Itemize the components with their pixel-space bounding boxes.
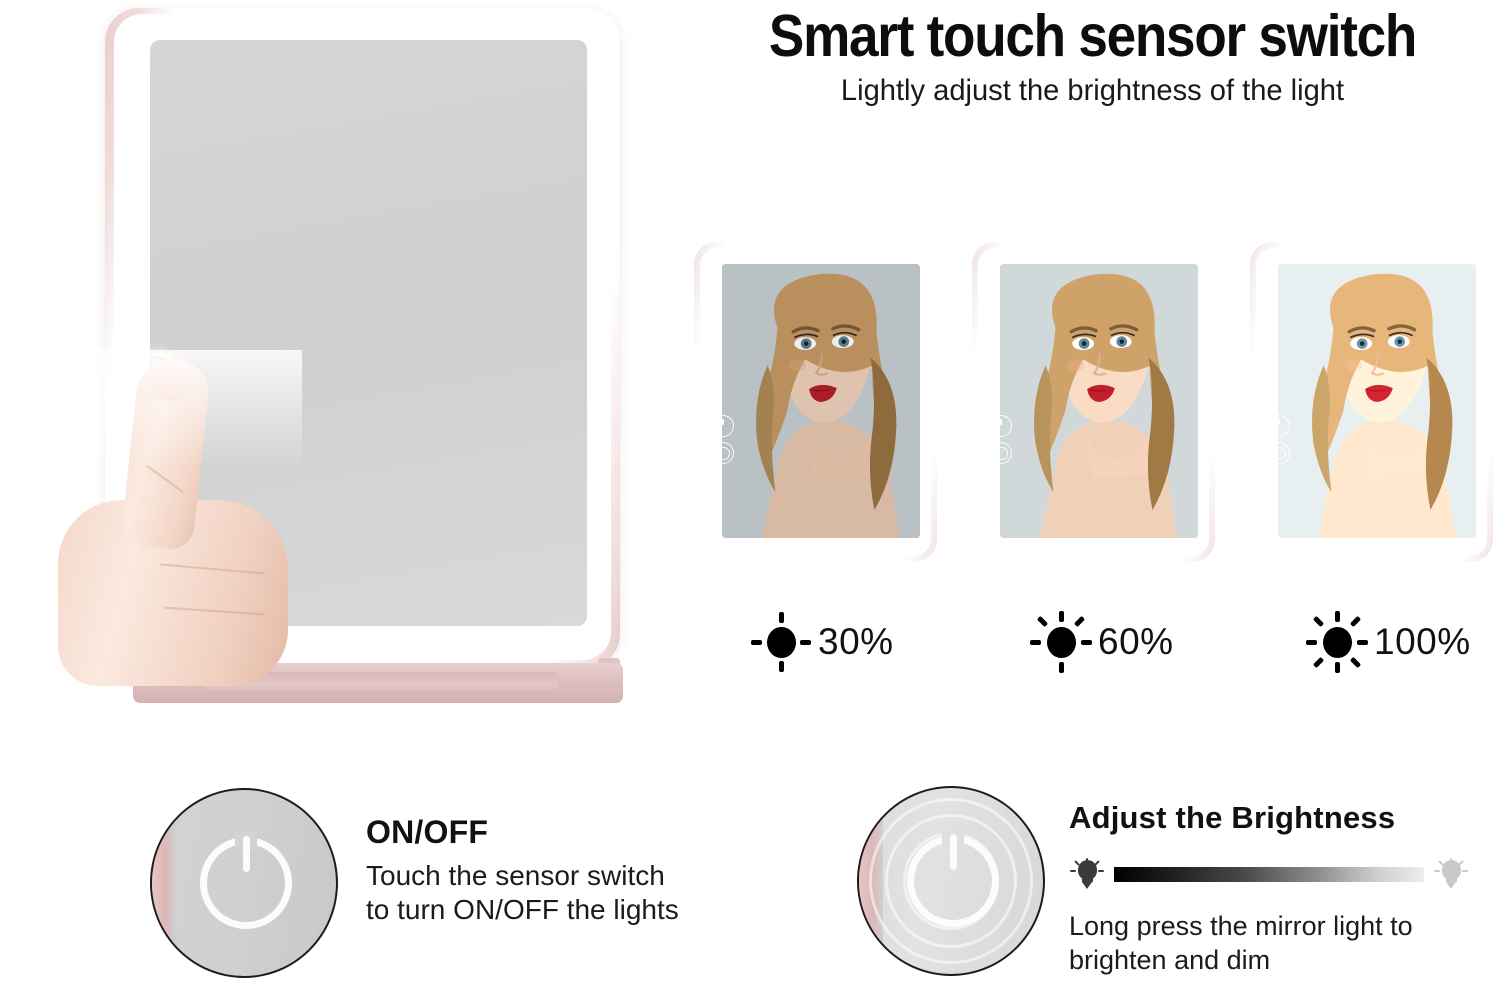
sun-ray bbox=[1081, 640, 1092, 645]
bright-bulb-icon bbox=[1433, 852, 1469, 896]
power-icon-stem bbox=[950, 834, 957, 870]
sun-ray bbox=[1313, 616, 1324, 627]
sun-ray bbox=[1059, 611, 1064, 622]
sun-core bbox=[1047, 627, 1076, 658]
sun-ray bbox=[779, 612, 784, 623]
sun-core bbox=[767, 627, 796, 658]
brightness-cycle-icon[interactable] bbox=[990, 442, 1012, 464]
sun-ray bbox=[1350, 616, 1361, 627]
bulb-ray bbox=[1070, 870, 1076, 872]
mirror-reflection-photo bbox=[722, 264, 920, 538]
on-off-line-2: to turn ON/OFF the lights bbox=[366, 893, 836, 927]
power-icon[interactable] bbox=[990, 415, 1012, 437]
brightness-level-labels: 30% 60% bbox=[694, 606, 1494, 686]
brightness-cycle-icon[interactable] bbox=[1268, 442, 1290, 464]
mirror-edge-strip bbox=[152, 801, 176, 965]
sun-ray bbox=[1059, 662, 1064, 673]
sun-ray bbox=[1350, 657, 1361, 668]
mirror-100 bbox=[1250, 242, 1493, 562]
on-off-line-1: Touch the sensor switch bbox=[366, 859, 836, 893]
on-off-description: Touch the sensor switch to turn ON/OFF t… bbox=[366, 859, 836, 927]
on-off-zoom-bubble bbox=[150, 788, 338, 978]
sun-core bbox=[1323, 627, 1352, 658]
brightness-zoom-bubble bbox=[857, 786, 1045, 976]
brightness-slider[interactable] bbox=[1069, 852, 1469, 896]
bulb-base bbox=[1446, 882, 1456, 889]
portrait-illustration bbox=[1278, 264, 1476, 538]
mirror-reflection-photo bbox=[1000, 264, 1198, 538]
bulb-base bbox=[1082, 882, 1092, 889]
brightness-value-100: 100% bbox=[1374, 621, 1471, 663]
on-off-heading: ON/OFF bbox=[366, 814, 836, 851]
brightness-value-30: 30% bbox=[818, 621, 894, 663]
sun-ray bbox=[751, 640, 762, 645]
page-subtitle: Lightly adjust the brightness of the lig… bbox=[702, 74, 1483, 108]
bulb-ray bbox=[1462, 870, 1468, 872]
hand-illustration bbox=[82, 360, 297, 680]
bulb-ray bbox=[1098, 870, 1104, 872]
dim-bulb-icon bbox=[1069, 852, 1105, 896]
demo-bezel bbox=[978, 248, 1209, 556]
page-title: Smart touch sensor switch bbox=[730, 6, 1455, 68]
brightness-line-2: brighten and dim bbox=[1069, 944, 1489, 978]
brightness-label-60: 60% bbox=[1030, 606, 1174, 678]
mirror-reflection-photo bbox=[1278, 264, 1476, 538]
power-icon-stem bbox=[1000, 419, 1002, 425]
brightness-heading: Adjust the Brightness bbox=[1069, 800, 1489, 836]
portrait-illustration bbox=[1000, 264, 1198, 538]
mirror-60 bbox=[972, 242, 1215, 562]
demo-bezel bbox=[700, 248, 931, 556]
sun-ray bbox=[1030, 640, 1041, 645]
brightness-demo-row bbox=[694, 242, 1494, 572]
brightness-description: Long press the mirror light to brighten … bbox=[1069, 910, 1489, 978]
sun-ray bbox=[1335, 611, 1340, 622]
demo-bezel bbox=[1256, 248, 1487, 556]
brightness-line-1: Long press the mirror light to bbox=[1069, 910, 1489, 944]
power-icon[interactable] bbox=[1268, 415, 1290, 437]
infographic-root: Smart touch sensor switch Lightly adjust… bbox=[0, 0, 1500, 981]
hero-product-mirror bbox=[100, 8, 640, 708]
bulb-ray bbox=[1434, 870, 1440, 872]
cycle-icon-ring bbox=[1273, 447, 1286, 460]
cycle-icon-ring bbox=[995, 447, 1008, 460]
power-icon-stem bbox=[243, 836, 250, 872]
header: Smart touch sensor switch Lightly adjust… bbox=[690, 6, 1495, 108]
sun-ray bbox=[800, 640, 811, 645]
on-off-text-block: ON/OFF Touch the sensor switch to turn O… bbox=[366, 814, 836, 927]
power-icon[interactable] bbox=[712, 415, 734, 437]
brightness-text-block: Adjust the Brightness bbox=[1069, 800, 1489, 978]
brightness-cycle-icon[interactable] bbox=[712, 442, 734, 464]
brightness-gradient-bar[interactable] bbox=[1114, 867, 1424, 882]
mirror-30 bbox=[694, 242, 937, 562]
sun-ray bbox=[779, 661, 784, 672]
sun-ray bbox=[1313, 657, 1324, 668]
sun-ray bbox=[1037, 616, 1048, 627]
power-icon-stem bbox=[722, 419, 724, 425]
sun-ray bbox=[1335, 662, 1340, 673]
sun-icon-100 bbox=[1306, 611, 1368, 673]
power-icon[interactable] bbox=[200, 837, 292, 929]
sun-icon-60 bbox=[1030, 611, 1092, 673]
power-icon[interactable] bbox=[907, 835, 999, 927]
brightness-label-30: 30% bbox=[750, 606, 894, 678]
sun-ray bbox=[1074, 616, 1085, 627]
brightness-label-100: 100% bbox=[1306, 606, 1471, 678]
cycle-icon-ring bbox=[717, 447, 730, 460]
sun-ray bbox=[1306, 640, 1317, 645]
brightness-value-60: 60% bbox=[1098, 621, 1174, 663]
sun-ray bbox=[1357, 640, 1368, 645]
portrait-illustration bbox=[722, 264, 920, 538]
power-icon-stem bbox=[1278, 419, 1280, 425]
sun-icon-30 bbox=[750, 611, 812, 673]
